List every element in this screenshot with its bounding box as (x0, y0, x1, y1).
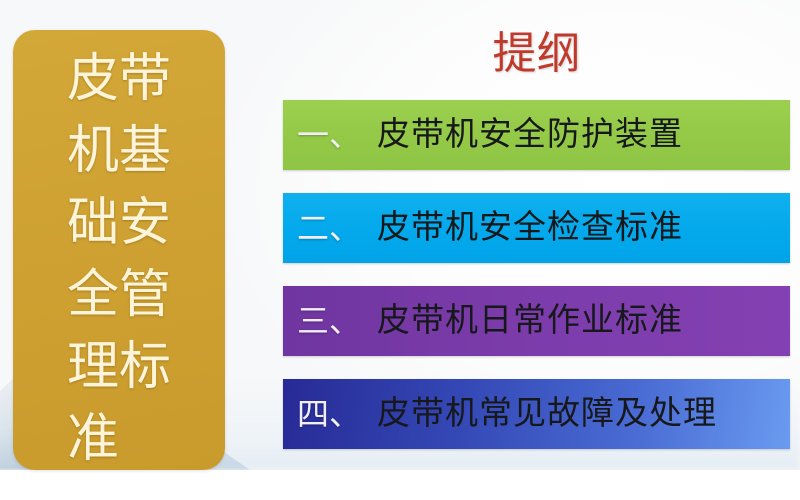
vertical-title-panel: 皮 机 础 全 理 准 带 基 安 管 标 (13, 30, 225, 470)
outline-item-1[interactable]: 一、 皮带机安全防护装置 (283, 100, 790, 170)
title-char: 础 (67, 188, 119, 260)
outline-list: 一、 皮带机安全防护装置 二、 皮带机安全检查标准 三、 皮带机日常作业标准 四… (283, 100, 790, 449)
title-char: 准 (67, 404, 119, 476)
outline-item-label: 皮带机日常作业标准 (377, 305, 683, 338)
outline-item-label: 皮带机常见故障及处理 (377, 398, 717, 431)
outline-item-label: 皮带机安全检查标准 (377, 212, 683, 245)
presentation-slide: 皮 机 础 全 理 准 带 基 安 管 标 提纲 一、 皮带机安全防护装置 二、 (0, 0, 800, 500)
outline-item-index: 一、 (297, 119, 361, 151)
title-char: 管 (119, 260, 171, 332)
outline-item-label: 皮带机安全防护装置 (377, 119, 683, 152)
outline-item-index: 四、 (297, 398, 361, 430)
outline-item-2[interactable]: 二、 皮带机安全检查标准 (283, 193, 790, 263)
outline-item-index: 三、 (297, 305, 361, 337)
page-title: 提纲 (283, 26, 790, 82)
outline-item-index: 二、 (297, 212, 361, 244)
title-char: 基 (119, 116, 171, 188)
outline-item-4[interactable]: 四、 皮带机常见故障及处理 (283, 379, 790, 449)
title-char: 标 (119, 332, 171, 404)
title-char: 理 (67, 332, 119, 404)
title-char: 安 (119, 188, 171, 260)
outline-item-3[interactable]: 三、 皮带机日常作业标准 (283, 286, 790, 356)
slide-bottom-strip (0, 470, 800, 500)
title-char: 机 (67, 116, 119, 188)
title-char: 皮 (67, 44, 119, 116)
vertical-title-column-right: 带 基 安 管 标 (119, 44, 171, 404)
vertical-title-column-left: 皮 机 础 全 理 准 (67, 44, 119, 476)
title-char: 带 (119, 44, 171, 116)
title-char: 全 (67, 260, 119, 332)
vertical-title-columns: 皮 机 础 全 理 准 带 基 安 管 标 (13, 30, 225, 470)
